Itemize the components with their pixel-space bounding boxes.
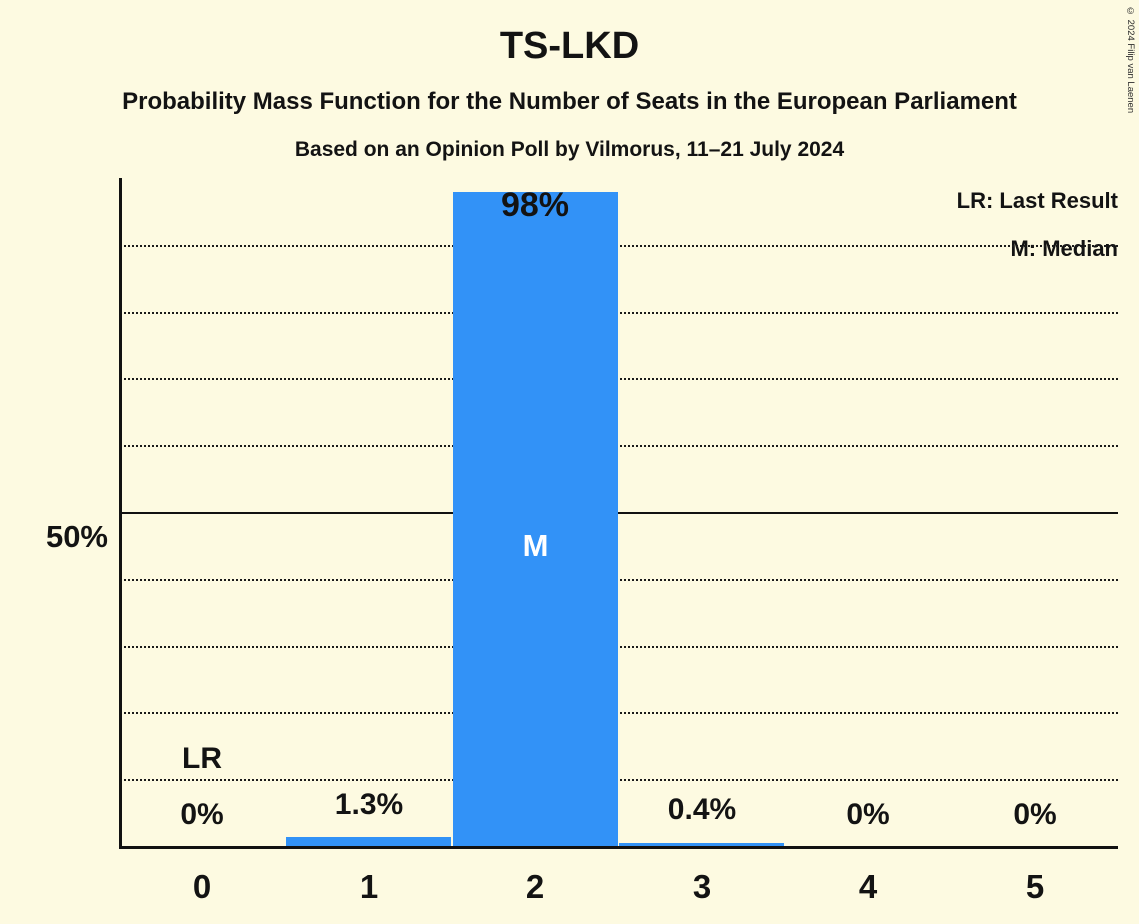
x-axis-tick-label-2: 2: [452, 868, 618, 906]
bar-value-label-1: 1.3%: [286, 788, 452, 822]
y-axis-tick-label-50: 50%: [8, 519, 108, 555]
bar-value-label-2: 98%: [452, 186, 618, 225]
x-axis-tick-label-1: 1: [286, 868, 452, 906]
gridline-60: [119, 445, 1118, 447]
gridline-70: [119, 378, 1118, 380]
x-axis-tick-label-0: 0: [119, 868, 285, 906]
x-axis-tick-label-5: 5: [952, 868, 1118, 906]
gridline-20: [119, 712, 1118, 714]
x-axis-tick-label-3: 3: [619, 868, 785, 906]
bar-value-label-5: 0%: [952, 798, 1118, 832]
bar-value-label-4: 0%: [785, 798, 951, 832]
gridline-10: [119, 779, 1118, 781]
chart-subtitle: Probability Mass Function for the Number…: [0, 88, 1139, 116]
chart-container: TS-LKD Probability Mass Function for the…: [0, 0, 1139, 924]
gridline-50-solid: [119, 512, 1118, 514]
x-axis-line: [119, 846, 1118, 849]
bar-2: [453, 192, 618, 846]
last-result-marker: LR: [119, 742, 285, 776]
copyright-notice: © 2024 Filip van Laenen: [1125, 6, 1136, 113]
gridline-30: [119, 646, 1118, 648]
bar-1: [286, 837, 451, 846]
gridline-80: [119, 312, 1118, 314]
gridline-90: [119, 245, 1118, 247]
median-marker: M: [453, 528, 618, 564]
x-axis-tick-label-4: 4: [785, 868, 951, 906]
chart-title: TS-LKD: [0, 25, 1139, 68]
gridline-40: [119, 579, 1118, 581]
chart-subsubtitle: Based on an Opinion Poll by Vilmorus, 11…: [0, 138, 1139, 162]
bar-value-label-3: 0.4%: [619, 793, 785, 827]
bar-value-label-0: 0%: [119, 798, 285, 832]
